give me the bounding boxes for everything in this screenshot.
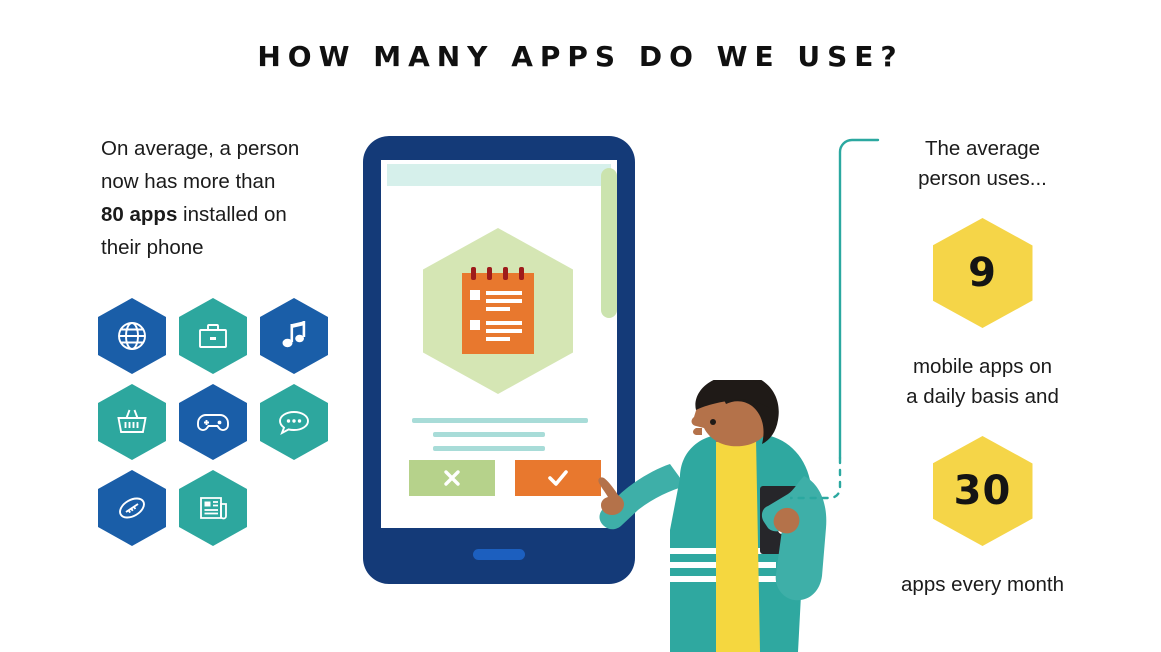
- notepad-line: [486, 321, 522, 325]
- notepad-line: [486, 329, 522, 333]
- app-hex-globe[interactable]: [98, 298, 166, 374]
- screen-side-tab: [601, 168, 617, 318]
- notepad-line: [486, 291, 522, 295]
- notepad-line: [486, 307, 510, 311]
- left-text-line-4: their phone: [101, 236, 204, 259]
- left-text-line-1: On average, a person: [101, 137, 299, 160]
- globe-icon: [115, 319, 149, 353]
- screen-header-bar: [387, 164, 611, 186]
- notepad-ring: [487, 267, 492, 280]
- infographic-canvas: HOW MANY APPS DO WE USE? On average, a p…: [0, 0, 1161, 652]
- gamepad-icon: [195, 407, 231, 437]
- left-text-line-3: installed on: [177, 203, 286, 226]
- app-hex-sports[interactable]: [98, 470, 166, 546]
- connector-svg: [790, 138, 880, 508]
- notepad-ring: [519, 267, 524, 280]
- newspaper-icon: [196, 493, 230, 523]
- daily-apps-hexagon: 9: [933, 218, 1033, 328]
- right-statistics-column: The average person uses... 9 mobile apps…: [880, 134, 1085, 600]
- close-icon: [441, 467, 463, 489]
- notepad-checkbox: [470, 320, 480, 330]
- notepad-icon: [462, 273, 534, 354]
- app-hex-news[interactable]: [179, 470, 247, 546]
- notepad-checkbox: [470, 290, 480, 300]
- notepad-ring: [503, 267, 508, 280]
- right-middle-line-1: mobile apps on: [913, 355, 1052, 378]
- left-text-line-2: now has more than: [101, 170, 275, 193]
- app-hex-music[interactable]: [260, 298, 328, 374]
- music-note-icon: [278, 319, 310, 353]
- head: [692, 380, 779, 446]
- right-intro-line-2: person uses...: [918, 167, 1047, 190]
- page-title: HOW MANY APPS DO WE USE?: [0, 40, 1161, 73]
- app-hex-basket[interactable]: [98, 384, 166, 460]
- chat-bubble-icon: [277, 407, 311, 437]
- app-hex-games[interactable]: [179, 384, 247, 460]
- left-text-bold-value: 80 apps: [101, 203, 177, 226]
- right-middle-line-2: a daily basis and: [906, 385, 1059, 408]
- monthly-apps-hexagon: 30: [933, 436, 1033, 546]
- right-intro-line-1: The average: [925, 137, 1040, 160]
- app-icon-grid: [98, 298, 348, 548]
- reject-button[interactable]: [409, 460, 495, 496]
- connector-line: [790, 138, 880, 508]
- phone-home-button[interactable]: [473, 549, 525, 560]
- notepad-line: [486, 337, 510, 341]
- right-intro-text: The average person uses...: [880, 134, 1085, 194]
- app-hex-messages[interactable]: [260, 384, 328, 460]
- basket-icon: [115, 406, 149, 438]
- notepad-line: [486, 299, 522, 303]
- football-icon: [115, 494, 149, 522]
- briefcase-icon: [196, 320, 230, 352]
- notepad-ring: [471, 267, 476, 280]
- app-hex-briefcase[interactable]: [179, 298, 247, 374]
- left-statistic-text: On average, a person now has more than 8…: [101, 132, 341, 264]
- right-outro-text: apps every month: [880, 570, 1085, 600]
- right-middle-text: mobile apps on a daily basis and: [880, 352, 1085, 412]
